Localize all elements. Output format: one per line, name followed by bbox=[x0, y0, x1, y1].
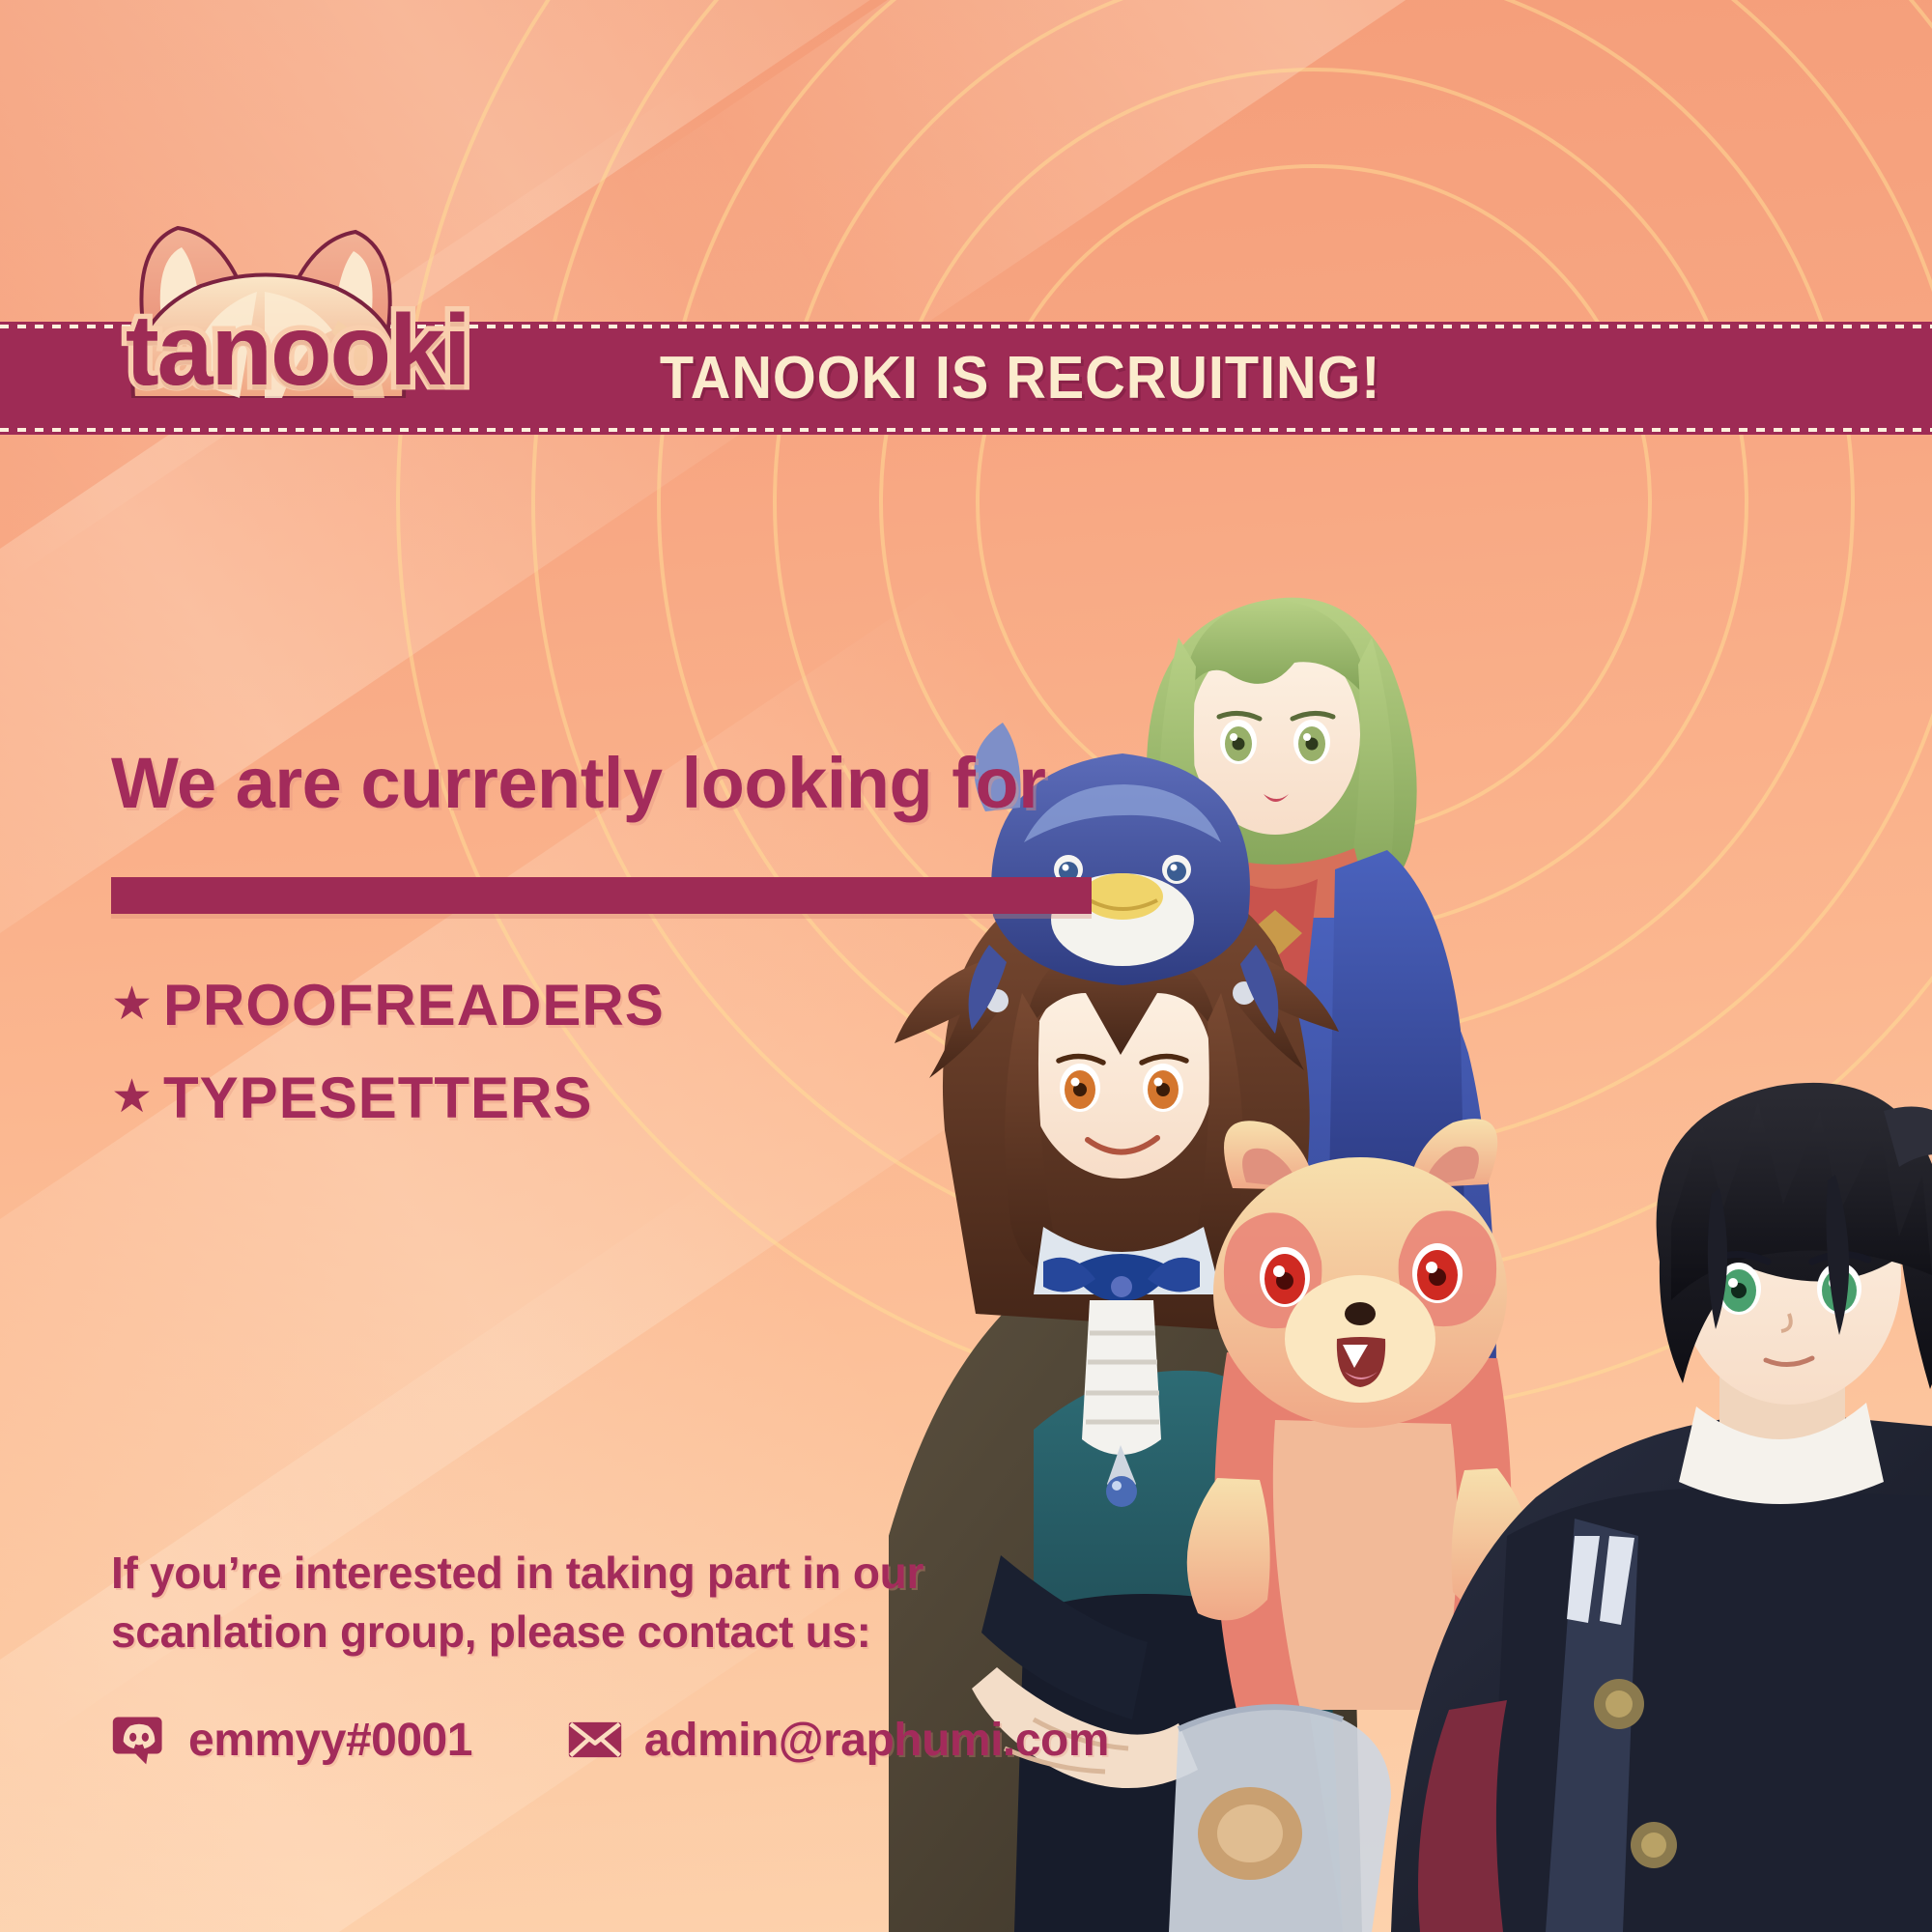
star-icon: ★ bbox=[111, 1074, 163, 1121]
logo-wordmark: tanooki bbox=[126, 294, 469, 409]
divider bbox=[111, 877, 1092, 914]
contact-instructions-line-2: scanlation group, please contact us: bbox=[111, 1603, 923, 1662]
recruitment-poster: We are currently looking for ★ PROOFREAD… bbox=[0, 0, 1932, 1932]
roles-list: ★ PROOFREADERS ★ TYPESETTERS bbox=[111, 958, 665, 1144]
contact-instructions-line-1: If you’re interested in taking part in o… bbox=[111, 1544, 923, 1603]
role-label: TYPESETTERS bbox=[163, 1065, 592, 1131]
page-title: We are currently looking for bbox=[111, 742, 1045, 824]
envelope-icon bbox=[567, 1712, 623, 1768]
email-address: admin@raphumi.com bbox=[644, 1714, 1109, 1767]
discord-handle: emmyy#0001 bbox=[188, 1714, 472, 1767]
tanooki-logo: tanooki tanooki bbox=[75, 205, 462, 398]
role-label: PROOFREADERS bbox=[163, 972, 665, 1038]
contact-instructions: If you’re interested in taking part in o… bbox=[111, 1544, 923, 1661]
contact-email[interactable]: admin@raphumi.com bbox=[567, 1712, 1109, 1768]
discord-icon bbox=[111, 1712, 167, 1768]
contact-handles: emmyy#0001 admin@raphumi.com bbox=[111, 1712, 1109, 1768]
list-item: ★ TYPESETTERS bbox=[111, 1051, 665, 1144]
contact-discord[interactable]: emmyy#0001 bbox=[111, 1712, 472, 1768]
star-icon: ★ bbox=[111, 981, 163, 1028]
list-item: ★ PROOFREADERS bbox=[111, 958, 665, 1051]
